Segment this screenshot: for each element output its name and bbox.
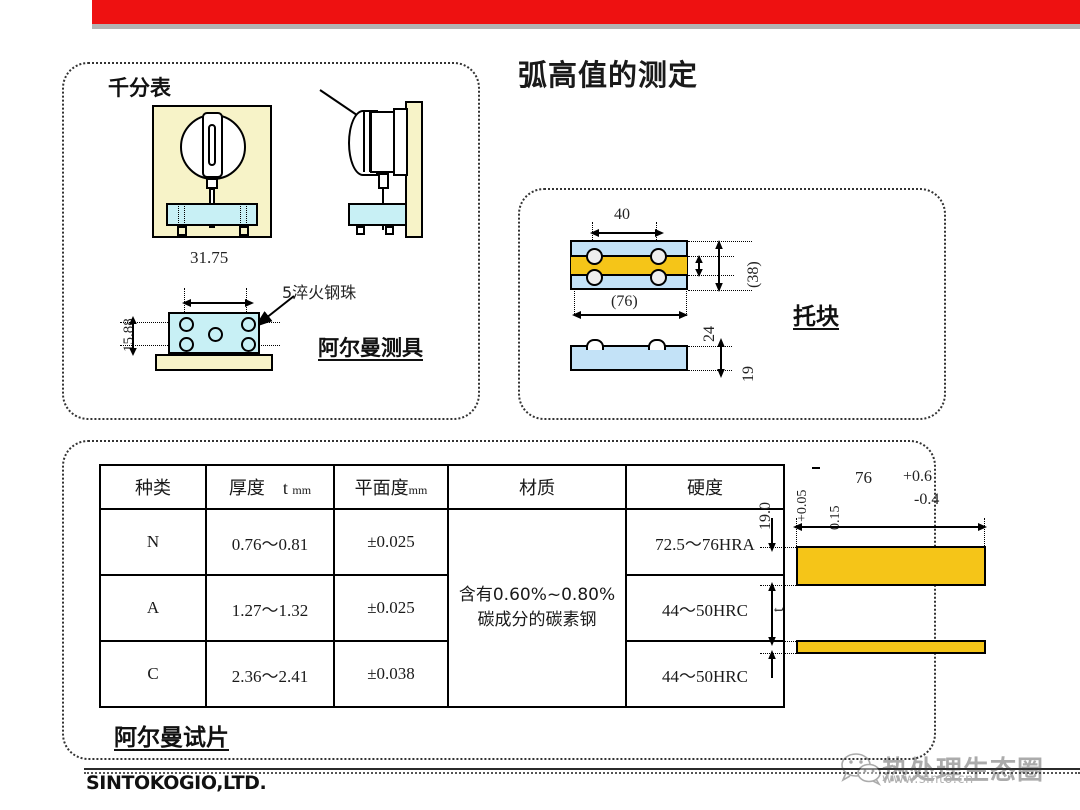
specimen-thickness-label: t bbox=[770, 608, 788, 612]
almen-ball-bottom-left bbox=[179, 337, 194, 352]
col-header-thickness-unit: mm bbox=[292, 483, 311, 497]
specimen-edge-arrow-lower bbox=[765, 648, 779, 678]
gauge-front-foot-left bbox=[177, 226, 187, 236]
gauge-front-hole-3 bbox=[240, 204, 241, 225]
specimen-len-ext-right bbox=[984, 518, 985, 548]
specimen-spec-table: 种类 厚度 t mm 平面度mm 材质 硬度 N 0.76 bbox=[99, 464, 785, 708]
col-header-thickness-main: 厚度 t bbox=[229, 478, 288, 498]
block-length-arrow bbox=[572, 308, 688, 322]
table-header: 种类 厚度 t mm 平面度mm 材质 硬度 bbox=[100, 465, 784, 509]
gauge-front-hole-1 bbox=[178, 204, 179, 225]
gauge-side-back bbox=[393, 108, 408, 176]
block-inner-height-arrow bbox=[692, 255, 706, 277]
specimen-len-ext-left bbox=[796, 518, 797, 548]
specimen-length-tol-minus: -0.4 bbox=[914, 491, 939, 509]
block-screw-bottom-left bbox=[586, 269, 603, 286]
block-overall-height-arrow bbox=[712, 240, 726, 292]
watermark-subtext: www.sinto.cn bbox=[882, 772, 974, 787]
block-thickness-label: 19 bbox=[740, 366, 758, 382]
table-row: N 0.76～0.81 ±0.025 含有0.60%~0.80% 碳成分的碳素钢… bbox=[100, 509, 784, 575]
gauge-side-rim-1 bbox=[363, 110, 365, 172]
cell-material-line1: 含有0.60%~0.80% bbox=[453, 583, 621, 608]
specimen-length-arrow bbox=[793, 520, 987, 534]
block-pitch-arrow bbox=[590, 226, 664, 240]
almen-center-hole bbox=[208, 327, 223, 342]
specimen-plan-view bbox=[796, 546, 986, 586]
table-header-row: 种类 厚度 t mm 平面度mm 材质 硬度 bbox=[100, 465, 784, 509]
gauge-front-base-block bbox=[166, 203, 258, 226]
specimen-edge-view bbox=[796, 640, 986, 654]
page-title: 弧高值的测定 bbox=[518, 52, 698, 94]
cell-kind: C bbox=[100, 641, 206, 707]
gauge-ball-pitch-arrow bbox=[182, 296, 254, 310]
block-len-ext-right bbox=[686, 288, 687, 316]
block-len-ext-left bbox=[574, 288, 575, 316]
block-side-screw-left bbox=[586, 339, 604, 350]
specimen-tol-minus-sign bbox=[812, 467, 820, 469]
specimen-edge-arrow-upper bbox=[765, 620, 779, 646]
panel-support-block bbox=[518, 188, 946, 420]
cell-kind: N bbox=[100, 509, 206, 575]
specimen-length-tol-plus: +0.6 bbox=[903, 468, 932, 486]
almen-fixture-base bbox=[155, 354, 273, 371]
col-header-flatness-unit: mm bbox=[409, 483, 428, 497]
cell-kind: A bbox=[100, 575, 206, 641]
col-header-material: 材质 bbox=[448, 465, 626, 509]
cell-material-line2: 碳成分的碳素钢 bbox=[453, 608, 621, 633]
cell-thickness: 1.27～1.32 bbox=[206, 575, 334, 641]
gauge-side-base-block bbox=[348, 203, 407, 226]
specimen-caption: 阿尔曼试片 bbox=[114, 718, 229, 752]
col-header-hardness-main: 硬度 bbox=[687, 478, 723, 498]
col-header-material-main: 材质 bbox=[519, 478, 555, 498]
cell-flatness: ±0.025 bbox=[334, 509, 448, 575]
cell-flatness: ±0.025 bbox=[334, 575, 448, 641]
footer-divider bbox=[84, 768, 1080, 770]
company-brand: SINTOKOGIO,LTD. bbox=[86, 772, 266, 794]
cell-hardness: 44～50HRC bbox=[626, 641, 784, 707]
col-header-kind: 种类 bbox=[100, 465, 206, 509]
cell-thickness: 0.76～0.81 bbox=[206, 509, 334, 575]
almen-ball-top-left bbox=[179, 317, 194, 332]
block-side-screw-right bbox=[648, 339, 666, 350]
block-screw-top-left bbox=[586, 248, 603, 265]
gauge-front-hole-4 bbox=[246, 204, 247, 225]
top-accent-bar-shadow bbox=[92, 24, 1080, 29]
top-accent-bar bbox=[92, 0, 1080, 24]
specimen-width-arrow-lower bbox=[765, 580, 779, 624]
cell-material: 含有0.60%~0.80% 碳成分的碳素钢 bbox=[448, 509, 626, 707]
gauge-dial-window bbox=[208, 124, 216, 166]
block-overall-height-label: (38) bbox=[745, 261, 763, 288]
block-thickness-arrow bbox=[714, 338, 728, 378]
col-header-kind-main: 种类 bbox=[135, 478, 171, 498]
block-caption: 托块 bbox=[793, 297, 839, 331]
col-header-thickness: 厚度 t mm bbox=[206, 465, 334, 509]
block-pitch-dimension: 40 bbox=[614, 206, 630, 224]
gauge-width-dimension: 31.75 bbox=[190, 248, 228, 268]
specimen-width-arrow-upper bbox=[765, 518, 779, 552]
specimen-width-tol-plus: +0.05 bbox=[795, 490, 811, 522]
gauge-front-hole-2 bbox=[184, 204, 185, 225]
table-row: C 2.36～2.41 ±0.038 44～50HRC bbox=[100, 641, 784, 707]
almen-ball-bottom-right bbox=[241, 337, 256, 352]
gauge-side-stem-collar bbox=[378, 173, 389, 189]
gauge-front-foot-right bbox=[239, 226, 249, 236]
table-body: N 0.76～0.81 ±0.025 含有0.60%~0.80% 碳成分的碳素钢… bbox=[100, 509, 784, 707]
block-screw-bottom-right bbox=[650, 269, 667, 286]
gauge-caption: 阿尔曼测具 bbox=[318, 332, 423, 362]
slide-canvas: 弧高值的测定 千分表 31.75 5淬火钢珠 1 bbox=[0, 0, 1080, 810]
gauge-side-foot-right bbox=[385, 226, 394, 235]
almen-ball-top-right bbox=[241, 317, 256, 332]
specimen-length-label: 76 bbox=[855, 468, 872, 488]
col-header-flatness-main: 平面度 bbox=[355, 478, 409, 498]
col-header-flatness: 平面度mm bbox=[334, 465, 448, 509]
block-screw-top-right bbox=[650, 248, 667, 265]
cell-flatness: ±0.038 bbox=[334, 641, 448, 707]
cell-thickness: 2.36～2.41 bbox=[206, 641, 334, 707]
gauge-side-foot-left bbox=[356, 226, 365, 235]
gauge-heading: 千分表 bbox=[108, 72, 171, 102]
table-row: A 1.27～1.32 ±0.025 44～50HRC bbox=[100, 575, 784, 641]
